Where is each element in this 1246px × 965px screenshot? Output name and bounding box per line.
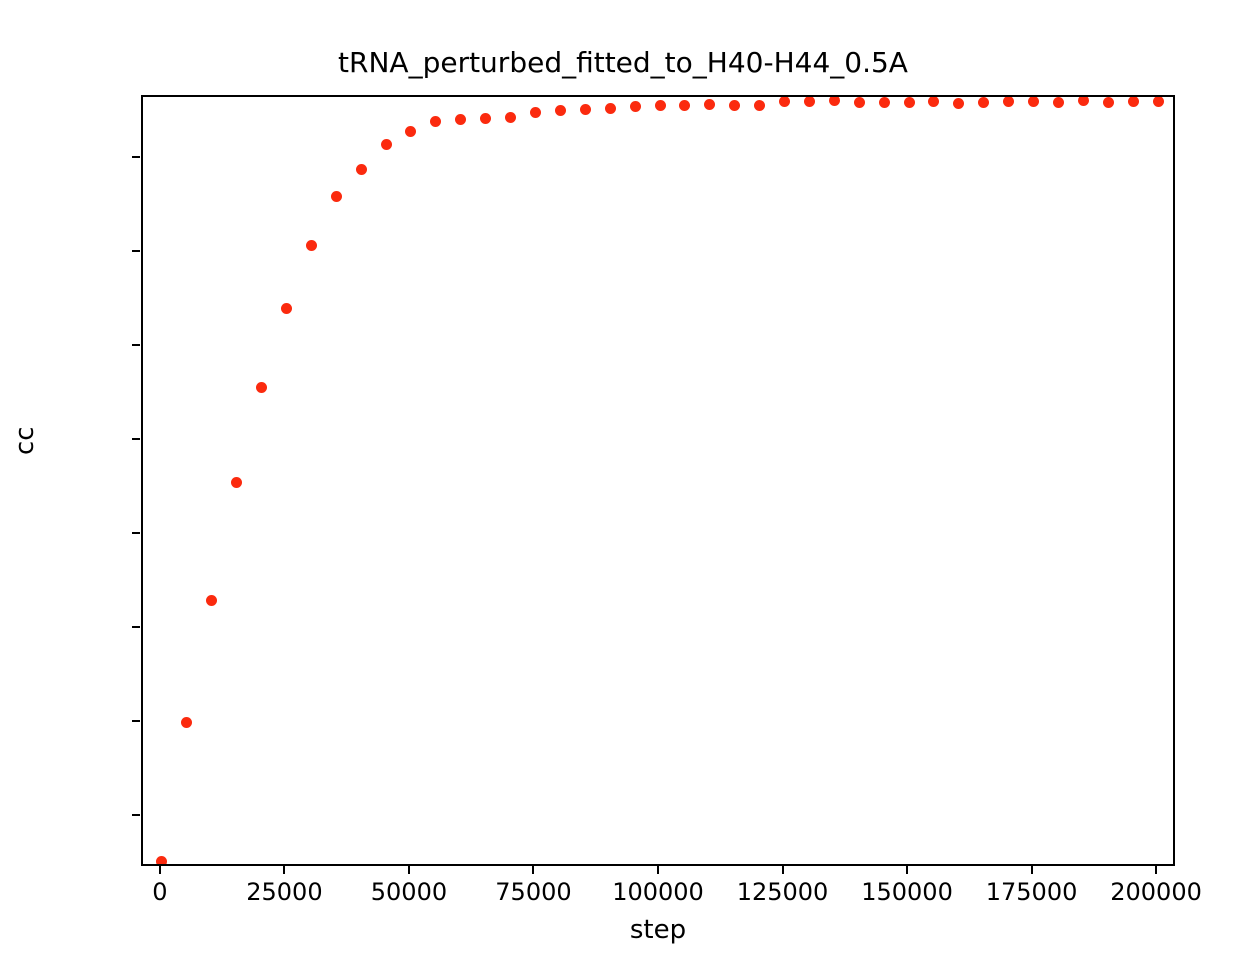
data-point (480, 113, 491, 124)
data-point (655, 100, 666, 111)
data-point (580, 104, 591, 115)
data-point (156, 856, 167, 864)
data-point (206, 595, 217, 606)
figure-canvas: tRNA_perturbed_fitted_to_H40-H44_0.5A 0.… (0, 0, 1246, 965)
y-tick-mark (132, 814, 140, 816)
data-point (1153, 97, 1164, 107)
plot-area (141, 95, 1175, 866)
data-point (928, 97, 939, 107)
data-point (405, 126, 416, 137)
data-point (306, 240, 317, 251)
y-tick-mark (132, 532, 140, 534)
x-tick-mark (1031, 866, 1033, 874)
data-point (829, 97, 840, 106)
x-tick-label: 200000 (1056, 878, 1246, 906)
data-point (281, 303, 292, 314)
data-point (904, 97, 915, 108)
data-point (1078, 97, 1089, 106)
data-point (1053, 97, 1064, 108)
y-tick-mark (132, 720, 140, 722)
data-point (779, 97, 790, 107)
data-point (854, 97, 865, 108)
y-tick-mark (132, 250, 140, 252)
data-point (1103, 97, 1114, 108)
x-tick-mark (532, 866, 534, 874)
data-point (505, 112, 516, 123)
y-axis-label: cc (10, 426, 40, 455)
data-point (1003, 97, 1014, 107)
data-point (231, 477, 242, 488)
data-point (430, 116, 441, 127)
data-point (181, 717, 192, 728)
x-tick-mark (782, 866, 784, 874)
y-tick-mark (132, 344, 140, 346)
data-point (679, 100, 690, 111)
data-point (879, 97, 890, 108)
data-point (953, 98, 964, 109)
data-point (978, 97, 989, 108)
data-point (555, 105, 566, 116)
data-point (256, 382, 267, 393)
x-axis-label: step (141, 915, 1175, 945)
scatter-series-cc (143, 97, 1173, 864)
data-point (356, 164, 367, 175)
data-point (605, 103, 616, 114)
data-point (1028, 97, 1039, 107)
data-point (1128, 97, 1139, 107)
page-title: tRNA_perturbed_fitted_to_H40-H44_0.5A (0, 46, 1246, 79)
data-point (704, 99, 715, 110)
data-point (381, 139, 392, 150)
data-point (754, 100, 765, 111)
x-tick-mark (906, 866, 908, 874)
y-tick-mark (132, 626, 140, 628)
x-tick-mark (283, 866, 285, 874)
data-point (804, 97, 815, 107)
data-point (630, 101, 641, 112)
x-tick-mark (657, 866, 659, 874)
data-point (530, 107, 541, 118)
data-point (455, 114, 466, 125)
x-tick-mark (159, 866, 161, 874)
y-tick-mark (132, 156, 140, 158)
x-tick-mark (408, 866, 410, 874)
data-point (331, 191, 342, 202)
y-tick-mark (132, 438, 140, 440)
x-tick-mark (1155, 866, 1157, 874)
data-point (729, 100, 740, 111)
